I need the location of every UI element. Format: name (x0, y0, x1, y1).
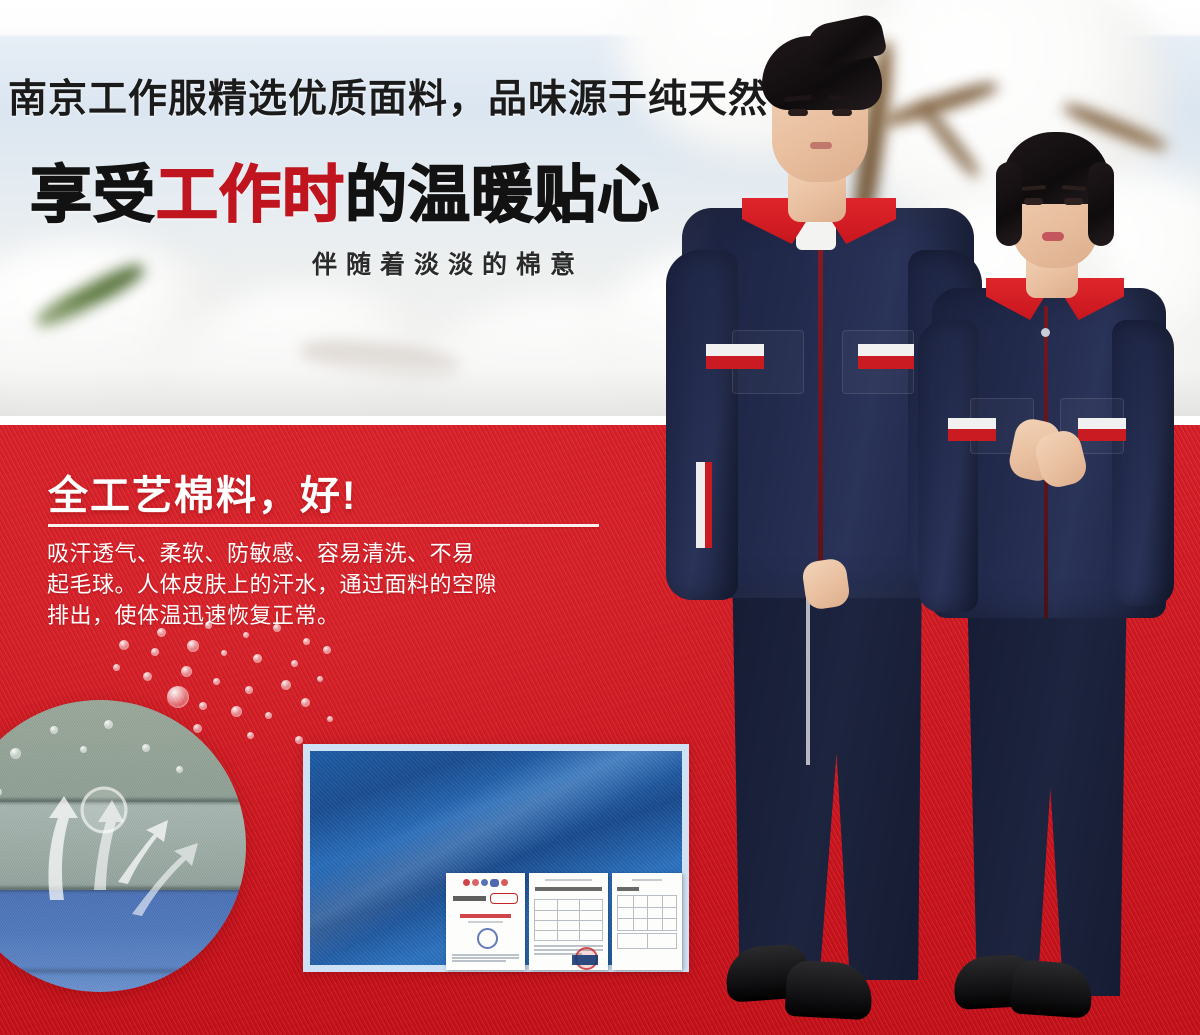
female-sleeve-left (918, 320, 978, 612)
certificate-panel (303, 744, 689, 972)
banner-text-block: 南京工作服精选优质面料，品味源于纯天然 享受工作时的温暖贴心 伴随着淡淡的棉意 (0, 0, 720, 300)
certificate-2 (529, 873, 608, 970)
male-eye-left (788, 109, 808, 116)
banner-headline-secondary: 享受工作时的温暖贴心 (30, 144, 660, 234)
certificate-3 (612, 873, 682, 970)
female-stripe-white-left (948, 418, 996, 429)
male-eye-right (832, 109, 852, 116)
feature-body-line: 吸汗透气、柔软、防敏感、容易清洗、不易 (47, 538, 497, 569)
certificate-1 (446, 873, 525, 970)
female-stripe-red-left (948, 429, 996, 441)
female-stripe-white-right (1078, 418, 1126, 429)
airflow-arrows-icon (0, 700, 246, 992)
feature-divider (48, 524, 599, 527)
feature-body-text: 吸汗透气、柔软、防敏感、容易清洗、不易 起毛球。人体皮肤上的汗水，通过面料的空隙… (47, 538, 497, 631)
male-hand (801, 557, 851, 611)
male-stripe-right (858, 356, 914, 369)
banner-headline-primary: 南京工作服精选优质面料，品味源于纯天然 (8, 68, 768, 124)
female-hair-side-right (1088, 162, 1114, 246)
female-sleeve-right (1112, 320, 1174, 606)
male-trousers (732, 560, 922, 980)
male-side-stripe-white (696, 462, 705, 548)
female-mouth (1042, 232, 1064, 241)
headline-part-1: 享受 (30, 161, 156, 230)
feature-heading: 全工艺棉料，好! (48, 463, 357, 521)
female-trousers (964, 596, 1130, 996)
female-eye-right (1064, 198, 1083, 205)
breathability-diagram (0, 700, 246, 992)
male-stripe-white-right (858, 344, 914, 356)
male-jacket-zip (818, 230, 823, 596)
female-eye-left (1024, 198, 1043, 205)
female-jacket-button (1041, 328, 1050, 337)
female-hair-side-left (996, 162, 1022, 246)
male-stripe-red-left (706, 356, 764, 369)
headline-part-3: 的温暖贴心 (345, 161, 660, 230)
banner-subtitle: 伴随着淡淡的棉意 (312, 245, 584, 281)
models-group (660, 0, 1200, 1035)
female-stripe-red-right (1078, 429, 1126, 441)
male-side-stripe-red (705, 462, 712, 548)
product-detail-page: 南京工作服精选优质面料，品味源于纯天然 享受工作时的温暖贴心 伴随着淡淡的棉意 … (0, 0, 1200, 1035)
headline-part-accent: 工作时 (156, 161, 345, 230)
male-mouth (810, 142, 832, 149)
male-stripe-white-left (706, 344, 764, 356)
feature-body-line: 起毛球。人体皮肤上的汗水，通过面料的空隙 (47, 569, 497, 600)
